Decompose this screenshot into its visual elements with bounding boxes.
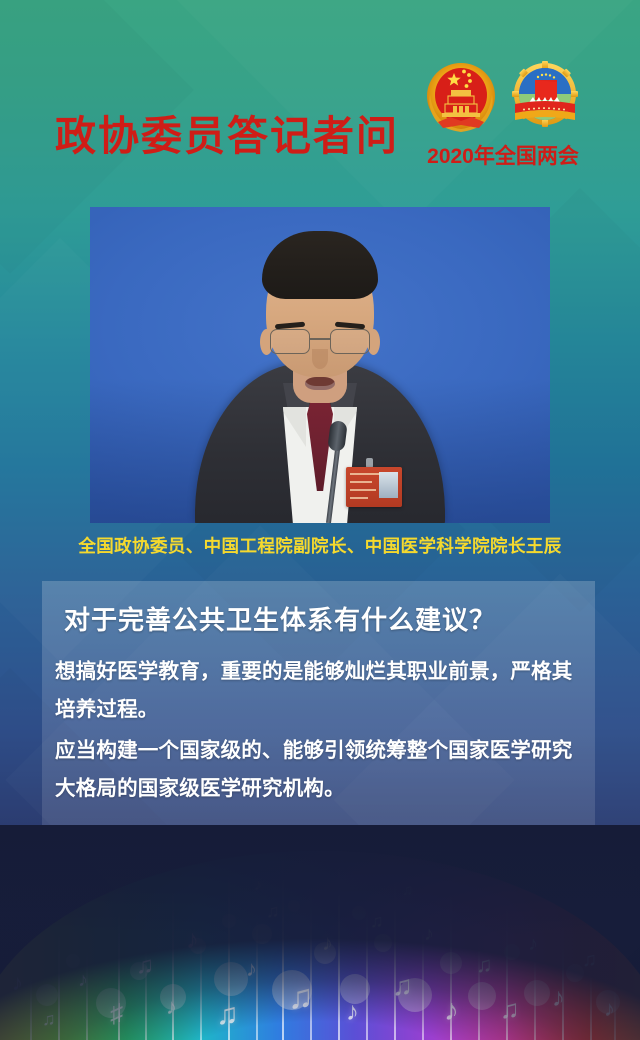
- page-title: 政协委员答记者问: [55, 116, 399, 157]
- poster-root: 政协委员答记者问: [0, 0, 640, 1040]
- answer-paragraph: 应当构建一个国家级的、能够引领统筹整个国家医学研究大格局的国家级医学研究机构。: [55, 732, 585, 808]
- emblem-group: [418, 58, 588, 138]
- answer-paragraph: 想搞好医学教育，重要的是能够灿烂其职业前景，严格其培养过程。: [55, 653, 585, 729]
- speaker-photo: [90, 207, 550, 523]
- photo-caption: 全国政协委员、中国工程院副院长、中国医学科学院院长王辰: [0, 533, 640, 558]
- qa-panel: 对于完善公共卫生体系有什么建议？ 想搞好医学教育，重要的是能够灿烂其职业前景，严…: [42, 581, 595, 838]
- rainbow-music-notes-artwork: ♪ ♫ ♪ ♯ ♫ ♪ ♪ ♫ ♪ ♫ ♫ ♪ ♪ ♫ ♫ ♪ ♪ ♫ ♫ ♪ …: [0, 825, 640, 1040]
- cppcc-emblem-icon: [508, 60, 582, 136]
- national-emblem-of-china-icon: [424, 60, 498, 136]
- answer-text: 想搞好医学教育，重要的是能够灿烂其职业前景，严格其培养过程。 应当构建一个国家级…: [55, 653, 585, 811]
- poster-header: 政协委员答记者问: [0, 0, 640, 195]
- delegate-id-badge: [346, 467, 402, 507]
- year-label: 2020年全国两会: [418, 140, 588, 170]
- question-text: 对于完善公共卫生体系有什么建议？: [64, 600, 496, 637]
